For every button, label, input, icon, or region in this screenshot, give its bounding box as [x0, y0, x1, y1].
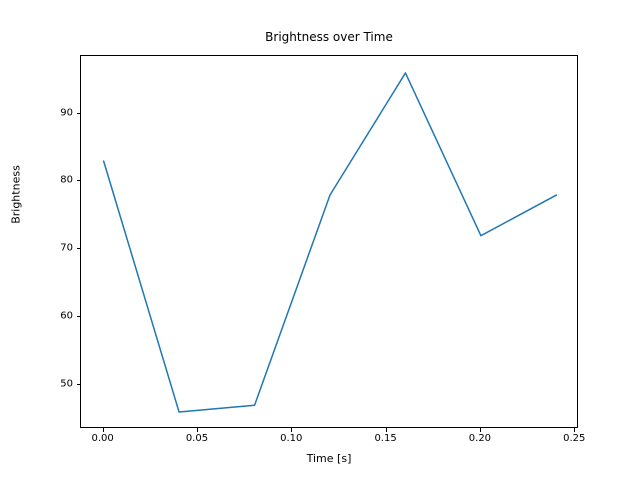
x-tick-label: 0.00	[91, 433, 113, 444]
y-tick-mark	[77, 248, 81, 249]
x-tick-mark	[480, 428, 481, 432]
chart-title: Brightness over Time	[0, 30, 640, 44]
y-axis-label: Brightness	[10, 115, 23, 275]
x-tick-mark	[291, 428, 292, 432]
y-tick-label: 60	[60, 311, 73, 322]
x-tick-mark	[574, 428, 575, 432]
series-brightness-line	[104, 73, 557, 412]
y-tick-mark	[77, 113, 81, 114]
y-tick-mark	[77, 180, 81, 181]
x-tick-label: 0.10	[280, 433, 302, 444]
y-tick-label: 90	[60, 107, 73, 118]
figure-canvas: Brightness over Time 0.000.050.100.150.2…	[0, 0, 640, 480]
x-tick-label: 0.20	[469, 433, 491, 444]
x-tick-label: 0.25	[563, 433, 585, 444]
x-tick-label: 0.15	[374, 433, 396, 444]
y-tick-mark	[77, 384, 81, 385]
y-tick-label: 80	[60, 175, 73, 186]
data-line-svg	[81, 56, 579, 429]
y-tick-mark	[77, 316, 81, 317]
x-tick-mark	[197, 428, 198, 432]
plot-area	[80, 55, 578, 428]
x-axis-label: Time [s]	[80, 452, 578, 465]
x-tick-mark	[386, 428, 387, 432]
y-tick-label: 50	[60, 378, 73, 389]
y-tick-label: 70	[60, 243, 73, 254]
x-tick-label: 0.05	[186, 433, 208, 444]
x-tick-mark	[103, 428, 104, 432]
